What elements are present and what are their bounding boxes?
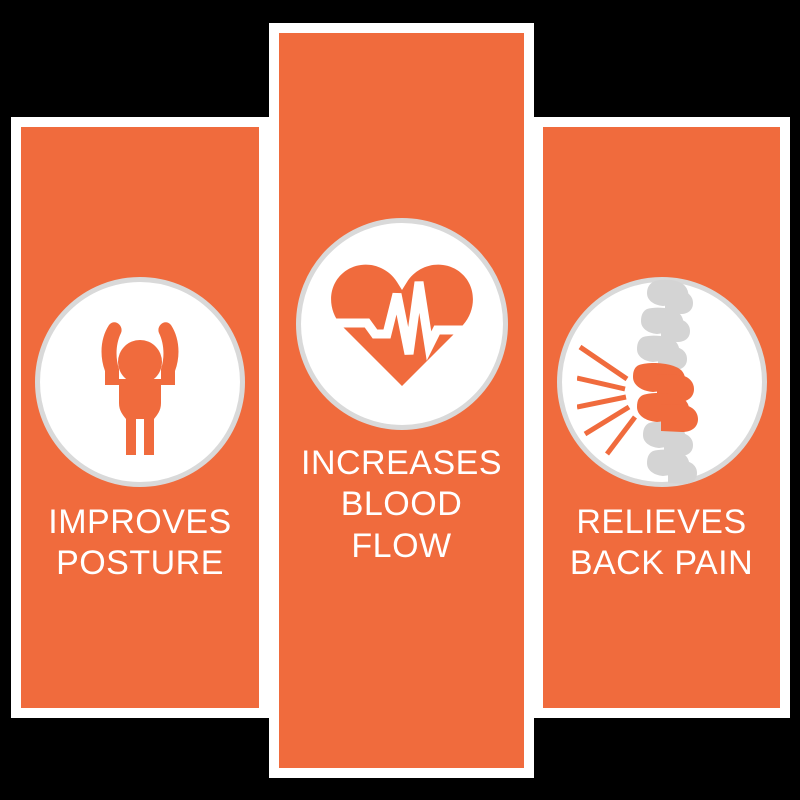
panel-relieves-back-pain-body: RELIEVES BACK PAIN (543, 127, 780, 708)
panel-caption-improves-posture: IMPROVES POSTURE (21, 502, 259, 585)
spine-pain-icon (577, 279, 747, 485)
panel-relieves-back-pain[interactable]: RELIEVES BACK PAIN (533, 117, 790, 718)
stretching-person-icon (75, 307, 205, 457)
panel-increases-blood-flow-body: INCREASES BLOOD FLOW (279, 33, 524, 768)
panel-improves-posture-body: IMPROVES POSTURE (21, 127, 259, 708)
panel-improves-posture[interactable]: IMPROVES POSTURE (11, 117, 269, 718)
panel-caption-relieves-back-pain: RELIEVES BACK PAIN (543, 502, 780, 585)
icon-medallion-blood-flow (296, 218, 508, 430)
heart-pulse-icon (327, 258, 477, 390)
icon-medallion-posture (35, 277, 245, 487)
infographic-canvas: IMPROVES POSTURE INCREASES BLOOD FLOW (0, 0, 800, 800)
panel-increases-blood-flow[interactable]: INCREASES BLOOD FLOW (269, 23, 534, 778)
icon-medallion-back-pain (557, 277, 767, 487)
panel-caption-increases-blood-flow: INCREASES BLOOD FLOW (279, 443, 524, 567)
